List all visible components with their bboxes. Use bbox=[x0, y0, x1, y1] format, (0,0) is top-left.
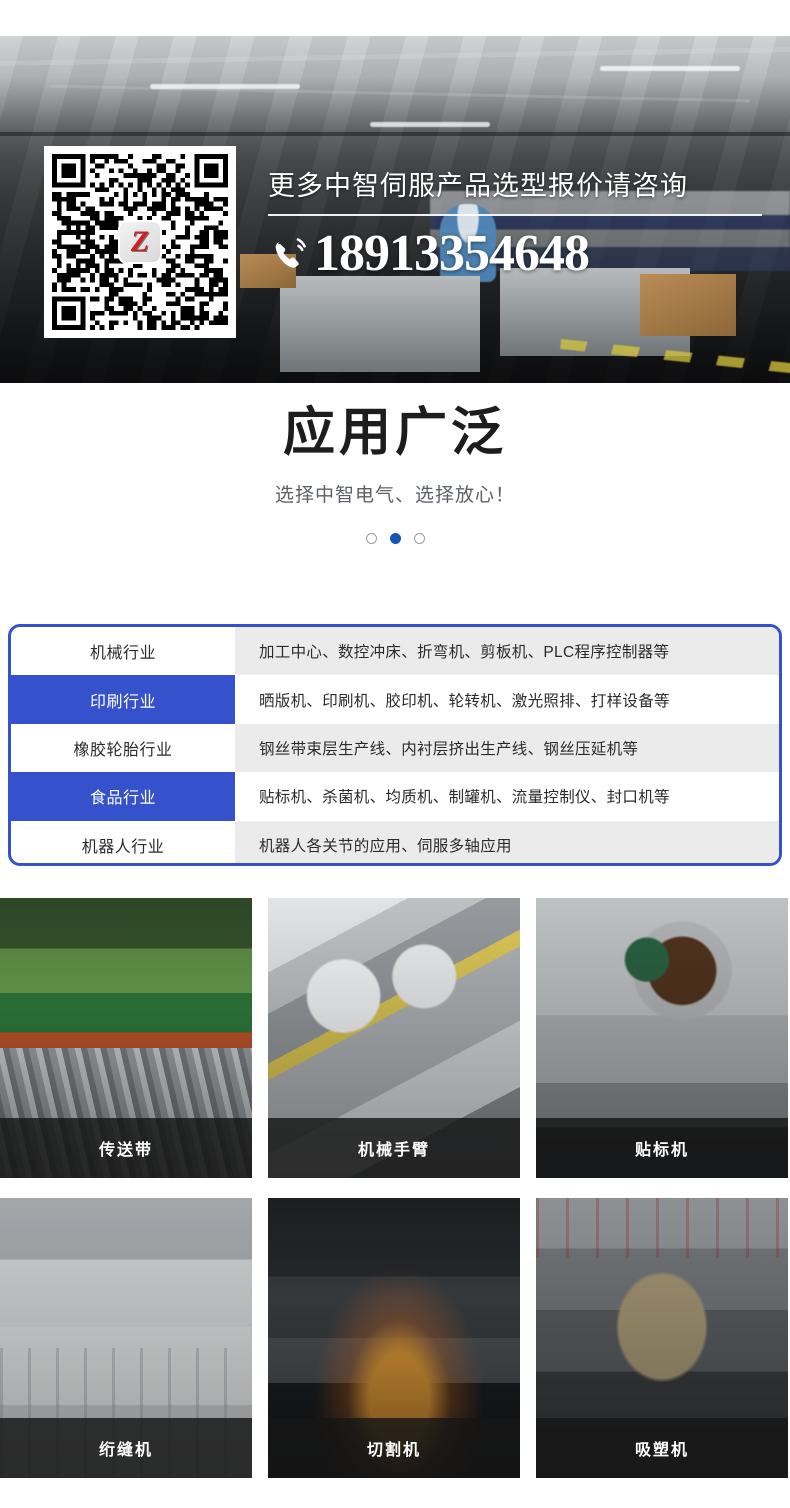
gallery-card-caption: 传送带 bbox=[0, 1118, 252, 1178]
table-row: 机器人行业机器人各关节的应用、伺服多轴应用 bbox=[11, 821, 779, 866]
gallery-card-caption: 绗缝机 bbox=[0, 1418, 252, 1478]
section-subtitle: 选择中智电气、选择放心！ bbox=[0, 480, 790, 507]
gallery-card[interactable]: 传送带 bbox=[0, 898, 252, 1178]
table-row: 印刷行业晒版机、印刷机、胶印机、轮转机、激光照排、打样设备等 bbox=[11, 675, 779, 723]
carousel-dot-2[interactable] bbox=[390, 533, 401, 544]
qr-code-card[interactable]: Z bbox=[44, 146, 236, 338]
banner-headline: 更多中智伺服产品选型报价请咨询 bbox=[268, 164, 768, 203]
table-row: 机械行业加工中心、数控冲床、折弯机、剪板机、PLC程序控制器等 bbox=[11, 627, 779, 675]
qr-code: Z bbox=[52, 154, 228, 330]
ceiling-beam bbox=[0, 132, 790, 136]
qr-center-logo: Z bbox=[118, 220, 162, 264]
industry-application-table: 机械行业加工中心、数控冲床、折弯机、剪板机、PLC程序控制器等印刷行业晒版机、印… bbox=[8, 624, 782, 866]
banner-text-block: 更多中智伺服产品选型报价请咨询 18913354648 bbox=[268, 164, 768, 280]
section-title: 应用广泛 bbox=[0, 404, 790, 464]
gallery-row: 绗缝机切割机吸塑机 bbox=[0, 1198, 790, 1478]
table-row: 橡胶轮胎行业钢丝带束层生产线、内衬层挤出生产线、钢丝压延机等 bbox=[11, 724, 779, 772]
carousel-dot-1[interactable] bbox=[366, 533, 377, 544]
brand-letter: Z bbox=[131, 227, 149, 257]
section-header: 应用广泛 选择中智电气、选择放心！ bbox=[0, 404, 790, 544]
gallery-card[interactable]: 贴标机 bbox=[536, 898, 788, 1178]
industry-name-cell: 橡胶轮胎行业 bbox=[11, 724, 235, 772]
page-root: Z 更多中智伺服产品选型报价请咨询 18913354648 应用广泛 选 bbox=[0, 0, 790, 1508]
work-cabinet bbox=[280, 276, 480, 372]
applications-cell: 机器人各关节的应用、伺服多轴应用 bbox=[235, 821, 779, 866]
gallery-row: 传送带机械手臂贴标机 bbox=[0, 898, 790, 1178]
applications-cell: 晒版机、印刷机、胶印机、轮转机、激光照排、打样设备等 bbox=[235, 675, 779, 723]
gallery-card-caption: 切割机 bbox=[268, 1418, 520, 1478]
applications-cell: 贴标机、杀菌机、均质机、制罐机、流量控制仪、封口机等 bbox=[235, 772, 779, 820]
applications-cell: 钢丝带束层生产线、内衬层挤出生产线、钢丝压延机等 bbox=[235, 724, 779, 772]
ceiling-lamp bbox=[370, 122, 490, 127]
ceiling-lamp bbox=[600, 66, 740, 71]
application-gallery: 传送带机械手臂贴标机绗缝机切割机吸塑机 bbox=[0, 898, 790, 1498]
hero-banner: Z 更多中智伺服产品选型报价请咨询 18913354648 bbox=[0, 36, 790, 383]
applications-cell: 加工中心、数控冲床、折弯机、剪板机、PLC程序控制器等 bbox=[235, 627, 779, 675]
industry-name-cell: 食品行业 bbox=[11, 772, 235, 820]
gallery-card[interactable]: 切割机 bbox=[268, 1198, 520, 1478]
ceiling-lamp bbox=[150, 84, 300, 89]
banner-divider bbox=[268, 214, 762, 216]
carousel-pagination[interactable] bbox=[0, 533, 790, 544]
carousel-dot-3[interactable] bbox=[414, 533, 425, 544]
banner-phone-row[interactable]: 18913354648 bbox=[268, 228, 768, 280]
industry-name-cell: 机器人行业 bbox=[11, 821, 235, 866]
gallery-card-caption: 机械手臂 bbox=[268, 1118, 520, 1178]
gallery-card[interactable]: 吸塑机 bbox=[536, 1198, 788, 1478]
gallery-card-caption: 贴标机 bbox=[536, 1118, 788, 1178]
gallery-card[interactable]: 机械手臂 bbox=[268, 898, 520, 1178]
industry-name-cell: 印刷行业 bbox=[11, 675, 235, 723]
gallery-card[interactable]: 绗缝机 bbox=[0, 1198, 252, 1478]
cardboard-box bbox=[640, 274, 736, 336]
contact-phone-number: 18913354648 bbox=[314, 228, 589, 280]
industry-name-cell: 机械行业 bbox=[11, 627, 235, 675]
gallery-card-caption: 吸塑机 bbox=[536, 1418, 788, 1478]
table-row: 食品行业贴标机、杀菌机、均质机、制罐机、流量控制仪、封口机等 bbox=[11, 772, 779, 820]
phone-ring-icon bbox=[268, 233, 310, 275]
